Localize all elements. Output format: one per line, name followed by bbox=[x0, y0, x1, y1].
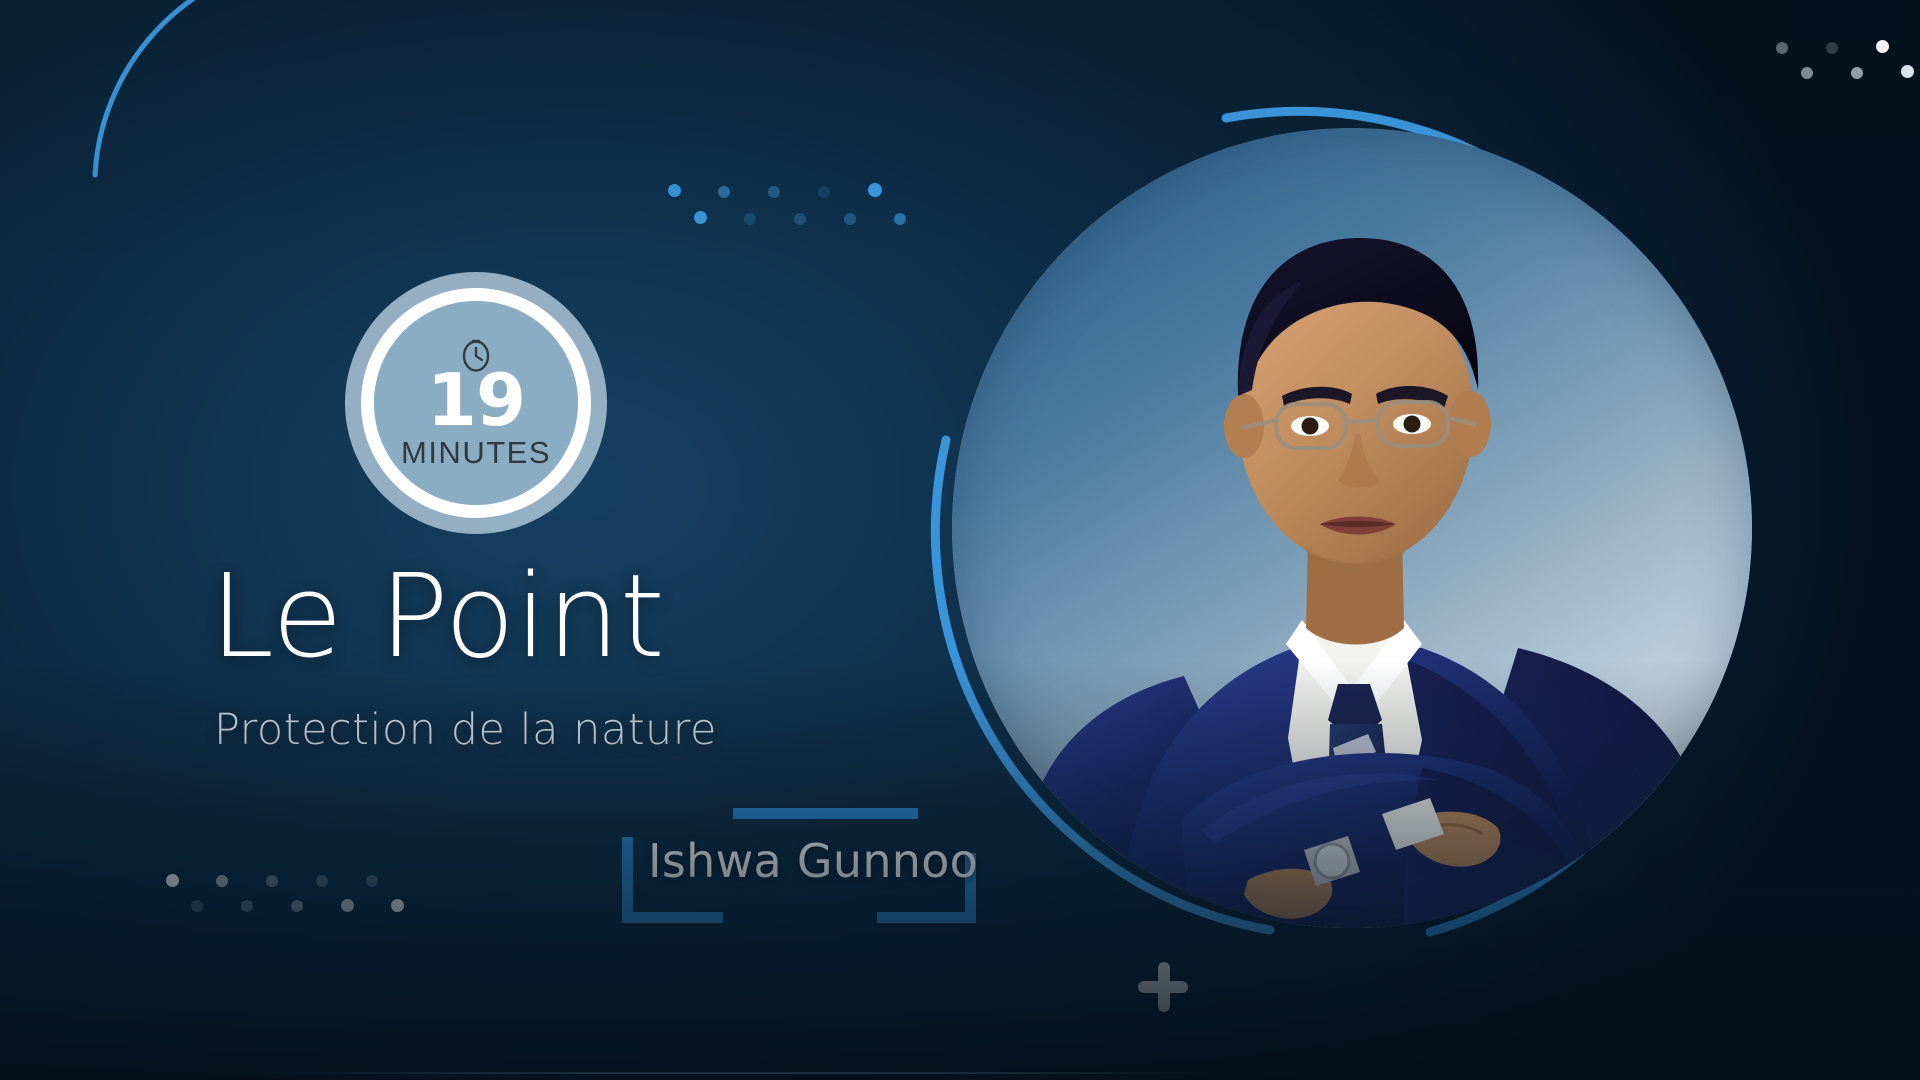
dot-grid-top-center bbox=[660, 178, 920, 238]
badge-inner-disc: 19 MINUTES bbox=[374, 301, 578, 505]
bottom-divider-line bbox=[240, 1072, 1220, 1074]
badge-duration-unit: MINUTES bbox=[401, 435, 551, 471]
frame-bracket-top bbox=[733, 808, 918, 819]
duration-badge: 19 MINUTES bbox=[345, 272, 607, 534]
broadcast-lower-third-graphic: 19 MINUTES Le Point Protection de la nat… bbox=[0, 0, 1920, 1080]
guest-name-frame: Ishwa Gunnoo bbox=[620, 808, 990, 923]
badge-duration-value: 19 bbox=[427, 369, 525, 432]
dot-grid-top-right bbox=[1770, 38, 1920, 98]
guest-portrait bbox=[952, 128, 1752, 928]
frame-bracket-right-horizontal bbox=[877, 912, 976, 923]
clock-icon bbox=[461, 335, 491, 373]
portrait-circle-frame bbox=[952, 128, 1752, 928]
guest-name-label: Ishwa Gunnoo bbox=[648, 834, 978, 888]
frame-bracket-left-horizontal bbox=[622, 912, 723, 923]
dot-grid-bottom-left bbox=[160, 870, 420, 930]
top-left-arc-icon bbox=[95, 0, 290, 175]
episode-topic: Protection de la nature bbox=[214, 705, 1110, 755]
frame-bracket-left-vertical bbox=[622, 837, 633, 923]
plus-icon bbox=[1138, 962, 1188, 1012]
title-block: Le Point Protection de la nature bbox=[210, 560, 1110, 755]
program-title: Le Point bbox=[210, 560, 1110, 675]
guest-photo bbox=[952, 128, 1752, 928]
plus-horizontal-bar bbox=[1138, 981, 1188, 993]
